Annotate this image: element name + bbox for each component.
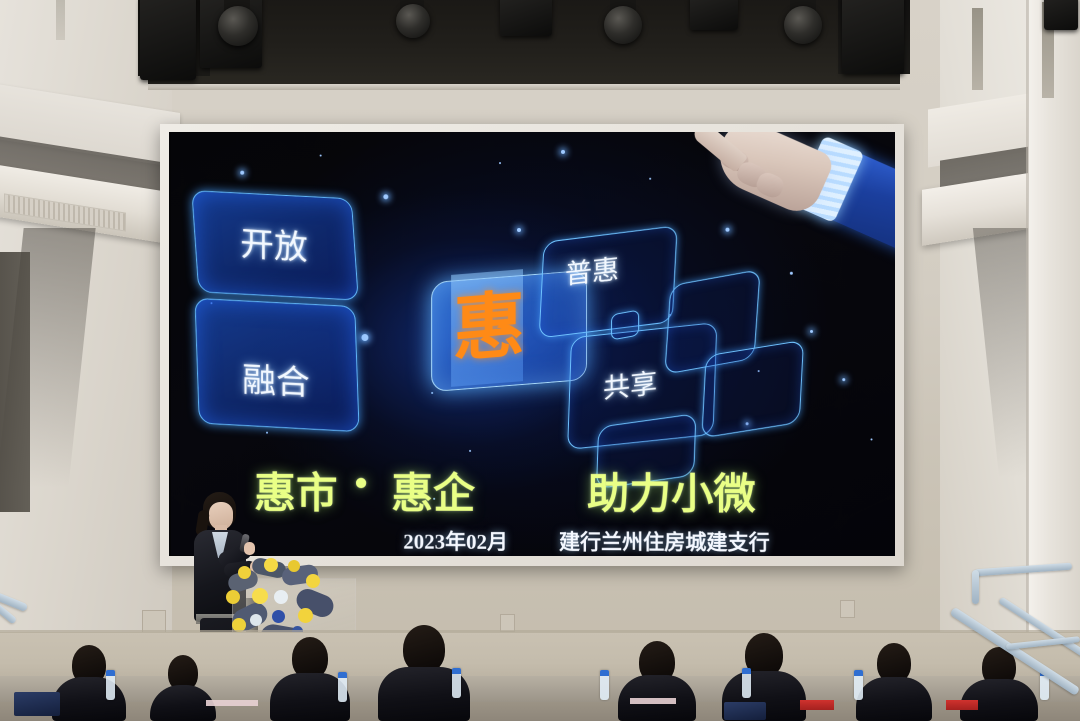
water-bottle xyxy=(338,672,347,702)
audience-member xyxy=(150,655,216,721)
ceiling-speaker-3 xyxy=(500,0,552,36)
hui-logo-character: 惠 xyxy=(453,279,521,376)
presentation-slide: 开放 融合 惠 普惠 共享 xyxy=(171,132,895,556)
slide-date: 2023年02月 xyxy=(403,526,508,556)
flower-yellow xyxy=(298,608,313,623)
flower-yellow xyxy=(306,574,320,588)
head xyxy=(403,625,445,673)
presenter-right-hand xyxy=(244,542,255,555)
flower-yellow xyxy=(264,558,278,572)
card-kaifang-label: 开放 xyxy=(240,216,308,269)
slide-title-dot: • xyxy=(354,462,367,506)
right-pillar xyxy=(1028,0,1080,721)
conference-hall-scene: 开放 融合 惠 普惠 共享 xyxy=(0,0,1080,721)
ceiling-speaker-5 xyxy=(842,0,904,74)
spotlight-2 xyxy=(396,4,430,38)
wall-slot-3 xyxy=(56,0,65,40)
handout-paper xyxy=(630,698,676,704)
water-bottle xyxy=(742,668,751,698)
handout-paper xyxy=(206,700,258,706)
water-bottle xyxy=(854,670,863,700)
spotlight-1 xyxy=(218,6,258,46)
flower-white xyxy=(250,614,262,626)
flower-yellow xyxy=(238,566,251,579)
ceiling-speaker-6 xyxy=(1044,0,1078,30)
flower-white xyxy=(274,590,288,604)
projection-screen: 开放 融合 惠 普惠 共享 xyxy=(169,132,895,556)
spotlight-3 xyxy=(604,6,642,44)
slide-organization: 建行兰州住房城建支行 xyxy=(559,526,770,556)
water-bottle xyxy=(452,668,461,698)
table-name-card xyxy=(946,700,978,710)
table-name-card xyxy=(800,700,834,710)
wall-outlet-2 xyxy=(840,600,855,618)
ceiling-speaker-1 xyxy=(140,0,196,80)
water-bottle xyxy=(106,670,115,700)
spotlight-4 xyxy=(784,6,822,44)
laptop xyxy=(724,702,766,720)
water-bottle xyxy=(600,670,609,700)
shoulders xyxy=(856,677,932,721)
audience-member xyxy=(618,641,696,721)
lower-wall-band-edge xyxy=(0,630,1080,633)
card-ronghe-label: 融合 xyxy=(242,352,310,404)
left-wall-dark-strip xyxy=(0,252,30,512)
flower-yellow xyxy=(226,590,240,604)
slide-title-right: 惠企 xyxy=(391,460,475,521)
stair-handrail-post xyxy=(972,570,979,604)
audience-member xyxy=(856,643,932,721)
ceiling-speaker-4 xyxy=(690,0,738,30)
flower-yellow xyxy=(288,560,300,572)
card-gongxiang-label: 共享 xyxy=(603,361,657,406)
flower-yellow xyxy=(252,588,268,604)
ceiling-lip xyxy=(148,84,900,90)
laptop xyxy=(14,692,60,716)
slide-title-second: 助力小微 xyxy=(587,460,756,521)
decorative-card-2 xyxy=(701,340,804,439)
slide-title-left: 惠市 xyxy=(254,460,337,521)
wall-slot-1 xyxy=(972,8,983,90)
flower-blue xyxy=(272,610,285,623)
card-puhui-label: 普惠 xyxy=(565,247,619,292)
